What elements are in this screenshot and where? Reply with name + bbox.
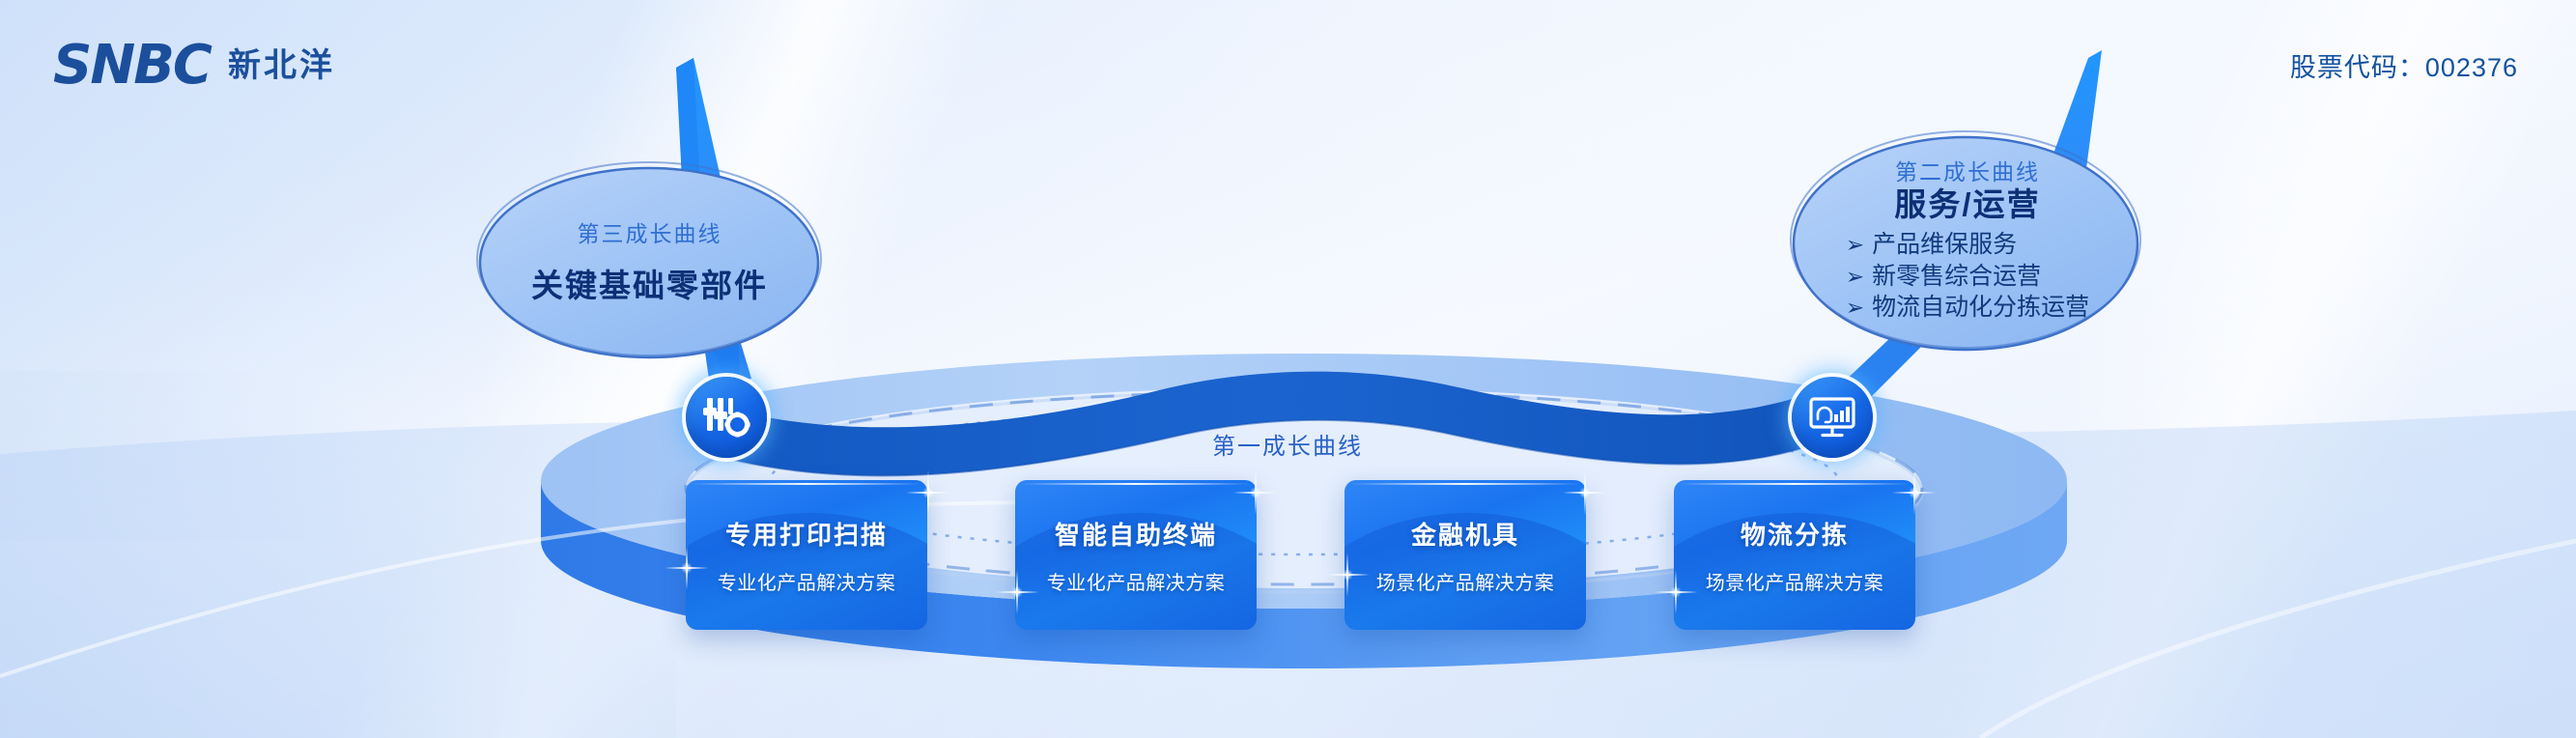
chevron-right-icon: ➢: [1846, 264, 1864, 289]
stock-code-label: 股票代码：002376: [2290, 46, 2518, 84]
third-growth-curve-bubble: 第三成长曲线 关键基础零部件: [483, 174, 816, 353]
list-item: ➢物流自动化分拣运营: [1846, 292, 2089, 324]
second-curve-bullet-list: ➢产品维保服务 ➢新零售综合运营 ➢物流自动化分拣运营: [1846, 229, 2089, 324]
infographic-canvas: SNBC 新北洋 股票代码：002376 第三成长曲线 关键基础零部件 第二成长…: [0, 0, 2576, 738]
sliders-gear-icon: [686, 377, 767, 458]
card-title: 物流分拣: [1741, 516, 1849, 552]
second-growth-curve-bubble: 第二成长曲线 服务/运营 ➢产品维保服务 ➢新零售综合运营 ➢物流自动化分拣运营: [1798, 145, 2137, 338]
chevron-right-icon: ➢: [1846, 232, 1864, 257]
sliders-gear-icon-glyph: [701, 392, 751, 442]
first-growth-curve-label: 第一成长曲线: [1212, 427, 1363, 461]
card-subtitle: 专业化产品解决方案: [718, 567, 896, 595]
card-subtitle: 场景化产品解决方案: [1706, 567, 1884, 595]
list-item-label: 物流自动化分拣运营: [1872, 294, 2089, 321]
logo-chinese-name: 新北洋: [228, 49, 335, 82]
card-title: 智能自助终端: [1055, 516, 1217, 552]
diagram-graphics: [0, 0, 2576, 738]
product-card[interactable]: 专用打印扫描 专业化产品解决方案: [686, 480, 927, 630]
card-title: 专用打印扫描: [725, 516, 888, 552]
third-curve-subtitle: 第三成长曲线: [578, 222, 722, 246]
product-card[interactable]: 智能自助终端 专业化产品解决方案: [1015, 480, 1257, 630]
second-curve-title: 服务/运营: [1894, 186, 2040, 223]
logo-wordmark: SNBC: [53, 39, 211, 93]
list-item-label: 新零售综合运营: [1872, 263, 2041, 290]
monitor-headset-chart-icon: [1792, 377, 1873, 458]
product-card[interactable]: 物流分拣 场景化产品解决方案: [1674, 480, 1915, 630]
list-item-label: 产品维保服务: [1872, 231, 2017, 258]
list-item: ➢产品维保服务: [1846, 229, 2089, 261]
third-curve-title: 关键基础零部件: [531, 268, 768, 304]
second-curve-subtitle: 第二成长曲线: [1895, 160, 2040, 184]
card-title: 金融机具: [1411, 516, 1519, 552]
brand-logo: SNBC 新北洋: [53, 39, 335, 93]
product-card[interactable]: 金融机具 场景化产品解决方案: [1345, 480, 1586, 630]
card-subtitle: 专业化产品解决方案: [1047, 567, 1226, 595]
list-item: ➢新零售综合运营: [1846, 261, 2089, 293]
monitor-headset-chart-icon-glyph: [1806, 391, 1858, 443]
chevron-right-icon: ➢: [1846, 295, 1864, 320]
card-subtitle: 场景化产品解决方案: [1376, 567, 1555, 595]
